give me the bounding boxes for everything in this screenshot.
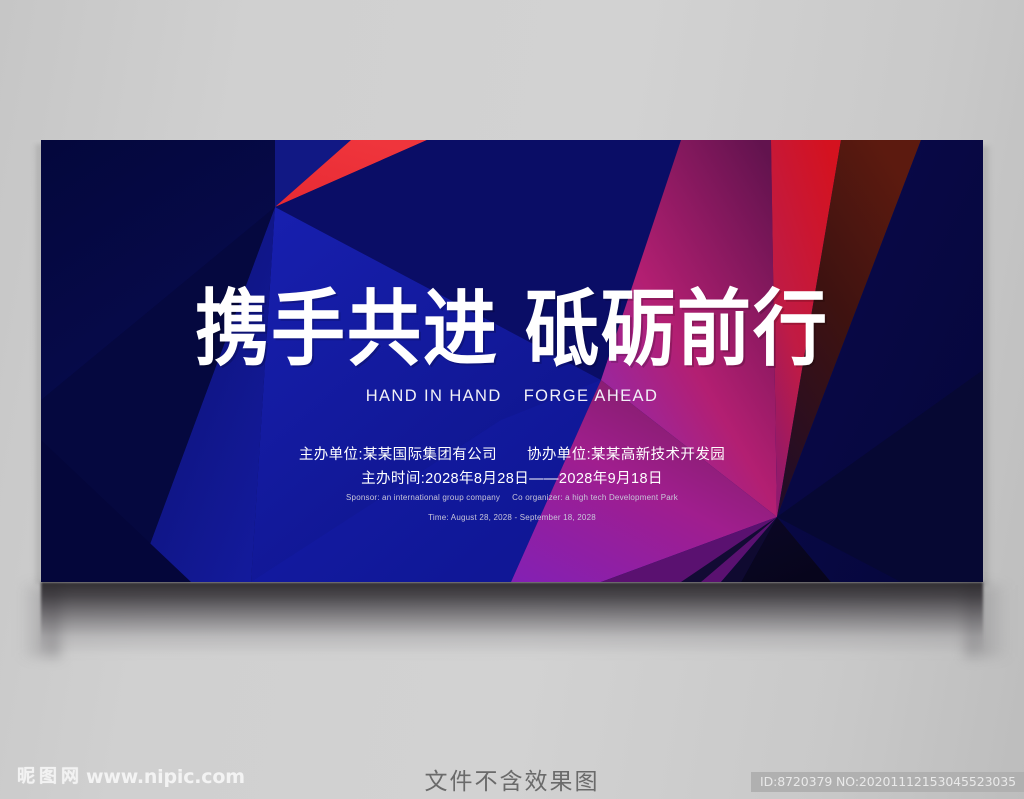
- poster-text-layer: 携手共进砥砺前行 HAND IN HANDFORGE AHEAD 主办单位:某某…: [41, 140, 983, 582]
- watermark: 昵 图 网 www.nipic.com: [16, 766, 245, 788]
- subhead-left: HAND IN HAND: [366, 387, 502, 405]
- en-organizer-text: Sponsor: an international group company: [346, 493, 500, 502]
- poster-headline: 携手共进砥砺前行: [41, 288, 983, 371]
- poster-english-time-line: Time: August 28, 2028 - September 18, 20…: [41, 513, 983, 522]
- banner-edge-shadow-right: [982, 146, 992, 586]
- watermark-logo-char-1: 昵: [16, 767, 36, 787]
- co-organizer-text: 协办单位:某某高新技术开发园: [527, 447, 725, 463]
- watermark-url: www.nipic.com: [86, 766, 245, 788]
- organizer-text: 主办单位:某某国际集团有公司: [299, 447, 497, 463]
- subhead-right: FORGE AHEAD: [524, 387, 659, 405]
- poster-artwork: 携手共进砥砺前行 HAND IN HANDFORGE AHEAD 主办单位:某某…: [41, 140, 983, 582]
- banner-drop-shadow: [41, 582, 983, 660]
- watermark-logo-char-2: 图: [38, 767, 58, 787]
- poster-organizer-line: 主办单位:某某国际集团有公司协办单位:某某高新技术开发园: [41, 443, 983, 464]
- watermark-logo: 昵 图 网: [16, 767, 80, 787]
- id-badge: ID:8720379 NO:20201112153045523035: [751, 772, 1024, 792]
- en-co-organizer-text: Co organizer: a high tech Development Pa…: [512, 493, 678, 502]
- poster-time-line: 主办时间:2028年8月28日——2028年9月18日: [41, 467, 983, 488]
- headline-left: 携手共进: [195, 282, 499, 375]
- watermark-logo-char-3: 网: [60, 767, 80, 787]
- poster-subheadline: HAND IN HANDFORGE AHEAD: [41, 387, 983, 406]
- banner-poster: 携手共进砥砺前行 HAND IN HANDFORGE AHEAD 主办单位:某某…: [41, 140, 983, 582]
- headline-right: 砥砺前行: [525, 282, 829, 375]
- poster-english-organizer-line: Sponsor: an international group companyC…: [41, 493, 983, 502]
